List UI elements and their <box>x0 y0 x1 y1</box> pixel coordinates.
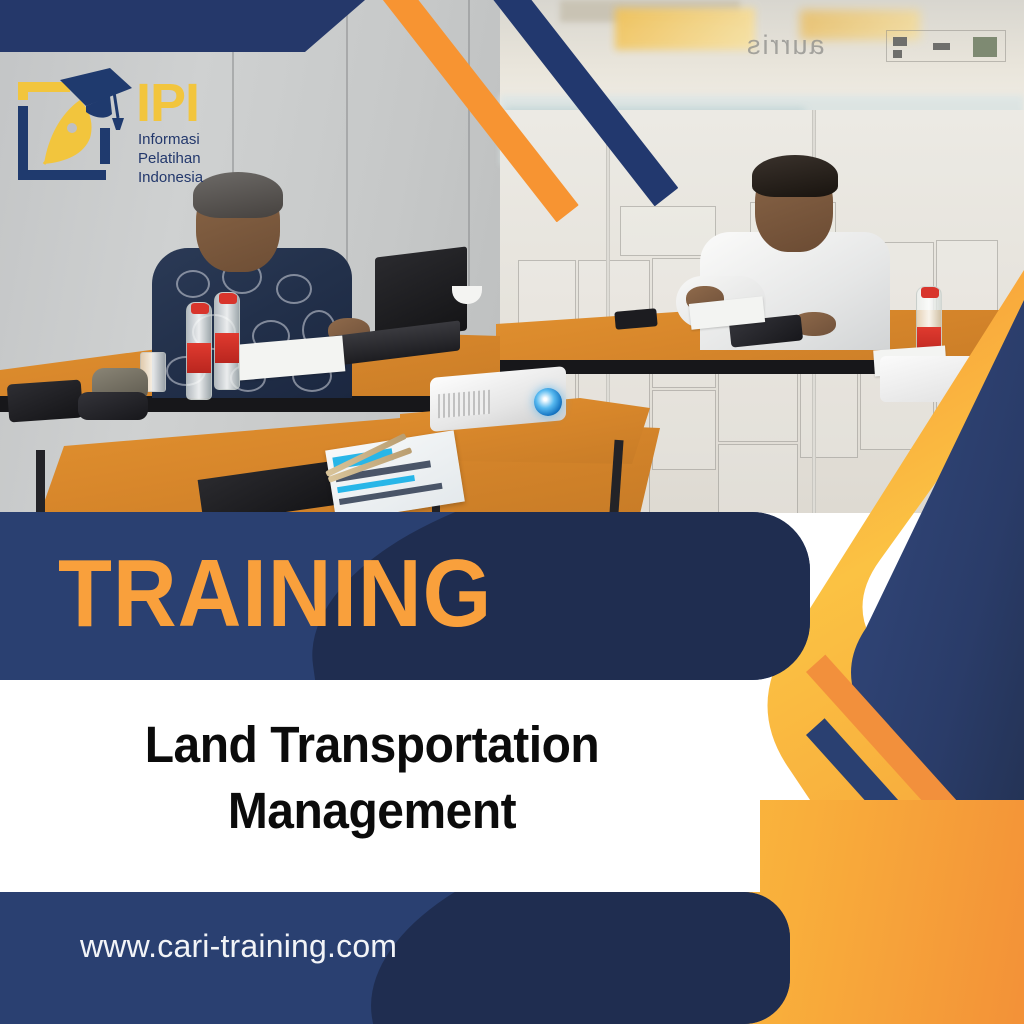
water-bottle <box>186 302 212 400</box>
logo-subtitle-line3: Indonesia <box>138 168 203 187</box>
person-hair <box>752 155 838 197</box>
laptop-bag <box>7 379 83 422</box>
poster-canvas: aurris <box>0 0 1024 1024</box>
course-title: Land Transportation Management <box>0 712 744 845</box>
graduation-cap-pen-nib-icon <box>14 66 134 186</box>
logo-initials: IPI <box>136 76 199 130</box>
mobile-phone <box>614 308 657 330</box>
logo-subtitle: Informasi Pelatihan Indonesia <box>138 130 203 188</box>
training-heading: TRAINING <box>58 546 492 642</box>
water-bottle <box>214 292 240 390</box>
ceiling-light <box>615 8 755 50</box>
projector <box>880 356 1008 402</box>
logo-subtitle-line1: Informasi <box>138 130 203 149</box>
course-title-line1: Land Transportation <box>22 712 721 778</box>
wall-switch-panel <box>886 30 1006 62</box>
projector-vent <box>438 390 490 419</box>
course-title-line2: Management <box>22 778 721 844</box>
ipi-logo[interactable]: IPI Informasi Pelatihan Indonesia <box>14 66 224 194</box>
projector-lens <box>534 388 562 416</box>
room-signage: aurris <box>745 30 825 61</box>
pouch <box>78 392 148 420</box>
website-url[interactable]: www.cari-training.com <box>80 928 397 965</box>
logo-subtitle-line2: Pelatihan <box>138 149 203 168</box>
wall-seam <box>468 0 470 300</box>
